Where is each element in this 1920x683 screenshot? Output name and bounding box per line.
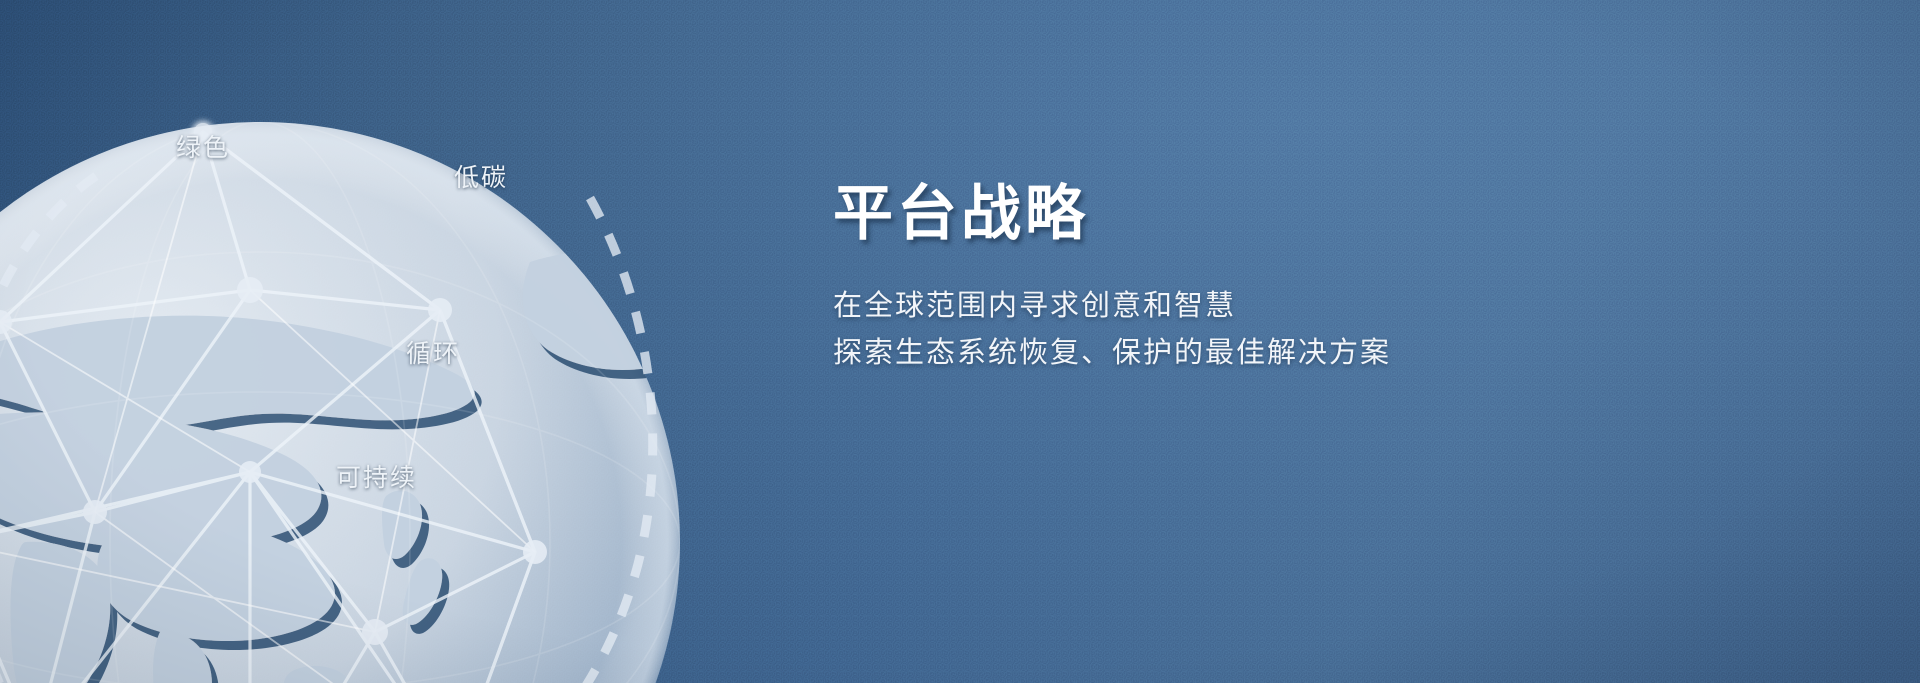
globe-network-nodes [0,121,547,683]
subtitle-line-1: 在全球范围内寻求创意和智慧 [833,283,1593,330]
globe-orbit-arcs [0,176,786,683]
hero-banner: 绿色 低碳 循环 可持续 平台战略 在全球范围内寻求创意和智慧 探索生态系统恢复… [0,0,1920,683]
globe-label-circular: 循环 [406,334,460,370]
subtitle-line-2: 探索生态系统恢复、保护的最佳解决方案 [833,330,1593,377]
globe-sphere [0,122,680,683]
subtitle-list: 在全球范围内寻求创意和智慧 探索生态系统恢复、保护的最佳解决方案 [833,283,1593,377]
globe-label-green: 绿色 [176,128,230,164]
globe-network-mesh-fine [0,132,535,683]
globe-illustration [0,72,880,683]
globe-graticule [0,122,680,683]
page-title: 平台战略 [833,182,1593,247]
globe-label-low-carbon: 低碳 [454,158,508,194]
hero-copy-block: 平台战略 在全球范围内寻求创意和智慧 探索生态系统恢复、保护的最佳解决方案 [833,182,1593,377]
globe-network-mesh [0,132,535,683]
globe-label-sustainable: 可持续 [336,458,417,494]
